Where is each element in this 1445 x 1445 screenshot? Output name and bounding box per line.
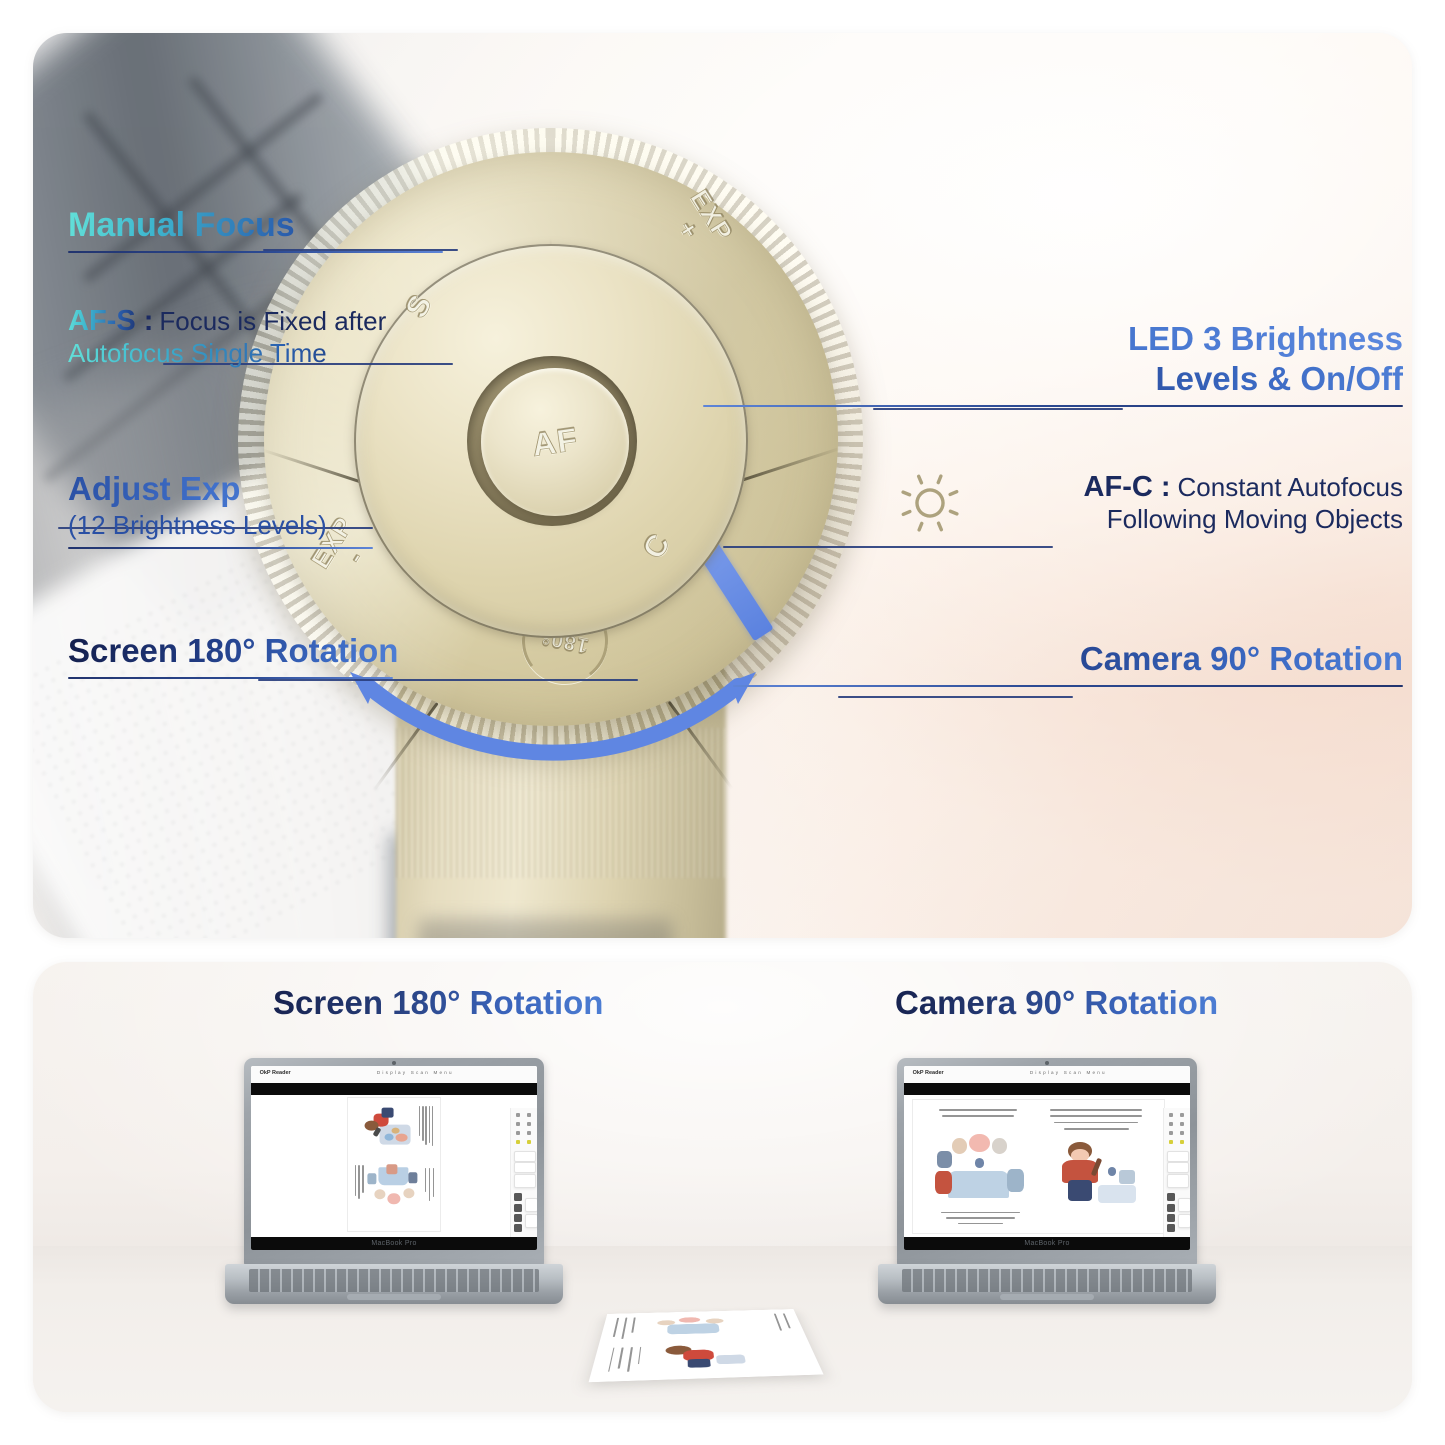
scanned-page	[348, 1098, 440, 1231]
callout-led-brightness-body: Levels & On/Off	[703, 361, 1403, 398]
app-right-toolbar[interactable]	[510, 1108, 537, 1237]
desk-page-illustration	[646, 1315, 749, 1339]
callout-led-brightness-title: LED 3 Brightness	[703, 321, 1403, 358]
desk-page-text	[613, 1317, 641, 1339]
app-brand-label: OkP Reader	[913, 1070, 944, 1076]
page-vertical-text	[423, 1168, 434, 1203]
callout-camera-rotation-rule	[733, 685, 1403, 687]
callout-adjust-exp-title: Adjust Exp	[68, 471, 378, 508]
callout-af-s: AF-S : Focus is Fixed after Autofocus Si…	[68, 305, 438, 369]
laptop-model-label: MacBook Pro	[251, 1240, 537, 1247]
callout-camera-rotation: Camera 90° Rotation	[733, 641, 1403, 687]
callout-adjust-exp-rule	[68, 547, 373, 549]
callout-af-c-body2: Following Moving Objects	[733, 505, 1403, 534]
heading-camera-rotation: Camera 90° Rotation	[895, 984, 1218, 1022]
leader-line-af-c	[723, 546, 1053, 548]
callout-manual-focus: Manual Focus	[68, 206, 443, 253]
callout-adjust-exp: Adjust Exp (12 Brightness Levels)	[68, 471, 378, 549]
page-vertical-text	[419, 1106, 434, 1146]
trackpad[interactable]	[1000, 1294, 1095, 1300]
desk-printed-page	[589, 1309, 824, 1382]
rotation-demo-panel: Screen 180° Rotation Camera 90° Rotation…	[33, 962, 1412, 1412]
app-titlebar: OkP Reader Display Scan Menu	[904, 1066, 1190, 1084]
leader-line-screen-rotation	[258, 679, 638, 681]
app-brand-label: OkP Reader	[260, 1070, 291, 1076]
infographic-stage: EXP + EXP -	[0, 0, 1445, 1445]
spread-text-left-lower	[938, 1212, 1024, 1227]
callout-af-c-title: AF-C :	[1084, 471, 1171, 503]
laptop-right[interactable]: OkP Reader Display Scan Menu	[878, 1058, 1216, 1308]
page-vertical-text	[355, 1165, 366, 1200]
callout-camera-rotation-title: Camera 90° Rotation	[733, 641, 1403, 678]
spread-text-left	[935, 1109, 1021, 1125]
leader-line-camera-rotation	[838, 696, 1073, 698]
callout-screen-rotation: Screen 180° Rotation	[68, 633, 398, 679]
laptop-right-screen[interactable]: OkP Reader Display Scan Menu	[904, 1066, 1190, 1250]
callout-af-s-body: Focus is Fixed after	[159, 307, 386, 336]
laptop-left-base	[225, 1264, 563, 1304]
laptop-right-lid: OkP Reader Display Scan Menu	[897, 1058, 1197, 1266]
app-titlebar: OkP Reader Display Scan Menu	[251, 1066, 537, 1084]
spread-illustration-right	[1048, 1140, 1144, 1209]
desk-page-text	[607, 1347, 643, 1373]
callout-led-brightness: LED 3 Brightness Levels & On/Off	[703, 321, 1403, 407]
callout-screen-rotation-rule	[68, 677, 393, 679]
callout-adjust-exp-body: (12 Brightness Levels)	[68, 511, 378, 540]
callout-led-brightness-rule	[703, 405, 1403, 407]
callout-af-c: AF-C : Constant Autofocus Following Movi…	[733, 471, 1403, 535]
app-canvas[interactable]	[251, 1095, 537, 1237]
page-illustration	[356, 1105, 415, 1148]
dial-feature-panel: EXP + EXP -	[33, 33, 1412, 938]
callout-screen-rotation-title: Screen 180° Rotation	[68, 633, 398, 670]
callout-af-s-body2: Autofocus Single Time	[68, 339, 438, 368]
desk-page-text	[762, 1314, 792, 1333]
callout-af-c-body: Constant Autofocus	[1178, 473, 1403, 502]
webcam-icon	[1045, 1061, 1049, 1065]
laptop-left-screen[interactable]: OkP Reader Display Scan Menu	[251, 1066, 537, 1250]
callout-af-s-title: AF-S :	[68, 305, 153, 337]
desk-page-illustration	[656, 1341, 761, 1372]
scanned-spread	[913, 1100, 1165, 1233]
webcam-icon	[392, 1061, 396, 1065]
dial-barrel-shadow	[418, 918, 673, 938]
trackpad[interactable]	[347, 1294, 442, 1300]
callout-manual-focus-rule	[68, 251, 443, 253]
app-right-toolbar[interactable]	[1163, 1108, 1190, 1237]
page-illustration	[361, 1162, 421, 1207]
spread-text-right	[1048, 1109, 1144, 1130]
af-button-label: AF	[471, 358, 638, 525]
app-menu-label[interactable]: Display Scan Menu	[1030, 1070, 1107, 1075]
laptop-left[interactable]: OkP Reader Display Scan Menu	[225, 1058, 563, 1308]
keyboard[interactable]	[249, 1269, 540, 1292]
app-menu-label[interactable]: Display Scan Menu	[377, 1070, 454, 1075]
app-toolbar-dark	[251, 1083, 537, 1096]
laptop-model-label: MacBook Pro	[904, 1240, 1190, 1247]
laptop-left-lid: OkP Reader Display Scan Menu	[244, 1058, 544, 1266]
laptop-right-base	[878, 1264, 1216, 1304]
app-canvas[interactable]	[904, 1095, 1190, 1237]
leader-line-led-brightness	[873, 408, 1123, 410]
heading-screen-rotation: Screen 180° Rotation	[273, 984, 603, 1022]
spread-illustration-left	[933, 1129, 1029, 1206]
callout-manual-focus-title: Manual Focus	[68, 206, 443, 244]
keyboard[interactable]	[902, 1269, 1193, 1292]
app-toolbar-dark	[904, 1083, 1190, 1096]
